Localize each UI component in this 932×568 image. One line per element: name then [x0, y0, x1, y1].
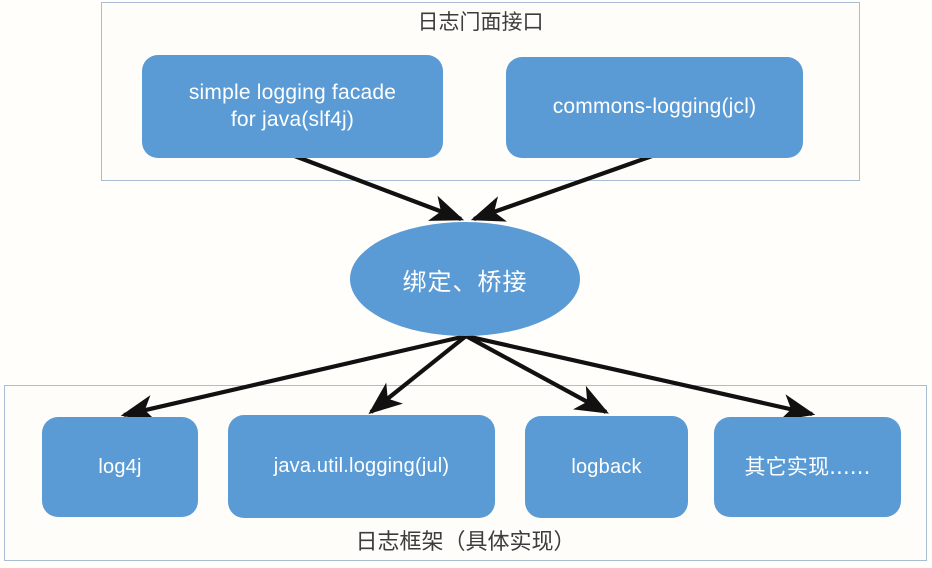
node-binding-bridging[interactable]: 绑定、桥接 [350, 222, 580, 336]
group-caption-implementation: 日志框架（具体实现） [4, 532, 927, 554]
node-other-implementations[interactable]: 其它实现...... [714, 417, 901, 517]
diagram-canvas: 日志门面接口 日志框架（具体实现） simple logging facadef… [0, 0, 932, 568]
node-logback[interactable]: logback [525, 416, 688, 518]
node-slf4j[interactable]: simple logging facadefor java(slf4j) [142, 55, 443, 158]
node-java-util-logging-jul[interactable]: java.util.logging(jul) [228, 415, 495, 518]
group-caption-facade: 日志门面接口 [101, 12, 860, 33]
node-log4j[interactable]: log4j [42, 417, 198, 517]
node-commons-logging-jcl[interactable]: commons-logging(jcl) [506, 57, 803, 158]
